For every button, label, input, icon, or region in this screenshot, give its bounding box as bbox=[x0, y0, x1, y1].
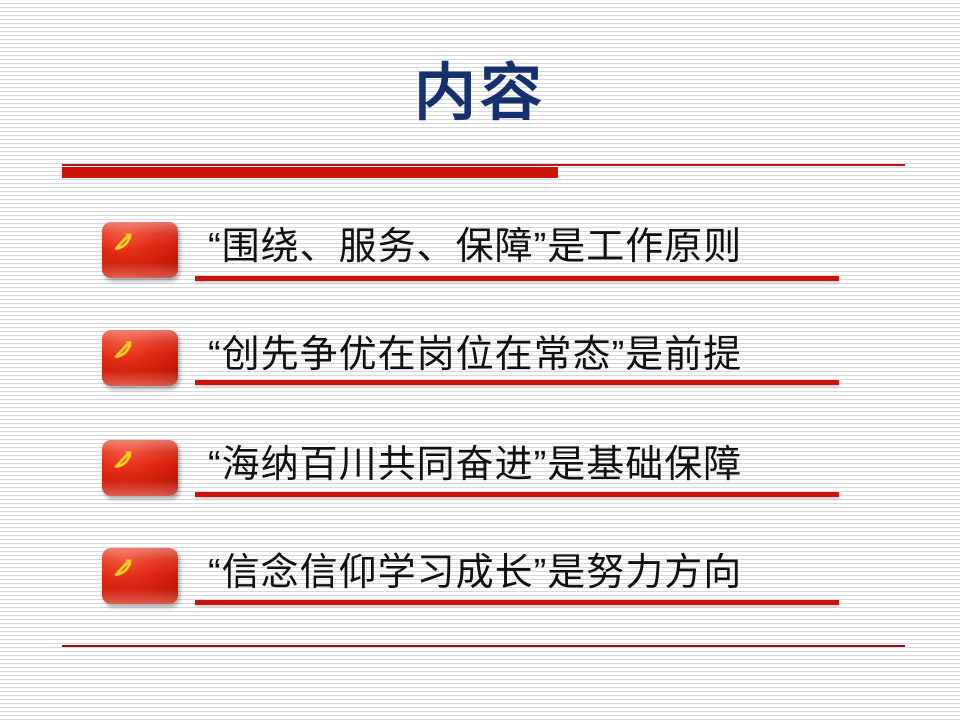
list-item-label: “围绕、服务、保障”是工作原则 bbox=[208, 214, 742, 280]
hammer-and-sickle-icon bbox=[111, 337, 135, 361]
list-item-underline bbox=[195, 276, 839, 281]
list-item-underline bbox=[195, 380, 839, 385]
cpc-flag-icon bbox=[102, 548, 178, 604]
cpc-flag-icon bbox=[102, 222, 178, 278]
list-item[interactable]: “创先争优在岗位在常态”是前提 bbox=[0, 322, 960, 414]
cpc-flag-icon bbox=[102, 330, 178, 386]
hammer-and-sickle-icon bbox=[111, 447, 135, 471]
list-item-label: “海纳百川共同奋进”是基础保障 bbox=[208, 432, 742, 498]
list-item-label: “创先争优在岗位在常态”是前提 bbox=[208, 322, 742, 388]
list-item-label: “信念信仰学习成长”是努力方向 bbox=[208, 540, 742, 606]
hammer-and-sickle-icon bbox=[111, 555, 135, 579]
list-item[interactable]: “信念信仰学习成长”是努力方向 bbox=[0, 540, 960, 632]
footer-divider bbox=[62, 645, 905, 647]
list-item[interactable]: “围绕、服务、保障”是工作原则 bbox=[0, 214, 960, 306]
list-item-underline bbox=[195, 492, 839, 497]
list-item[interactable]: “海纳百川共同奋进”是基础保障 bbox=[0, 432, 960, 524]
hammer-and-sickle-icon bbox=[111, 229, 135, 253]
content-list: “围绕、服务、保障”是工作原则 “创先争优在岗位在常态”是前提 bbox=[0, 0, 960, 720]
presentation-slide: 内容 “围绕、服务、保障”是工作原则 bbox=[0, 0, 960, 720]
cpc-flag-icon bbox=[102, 440, 178, 496]
list-item-underline bbox=[195, 600, 839, 605]
